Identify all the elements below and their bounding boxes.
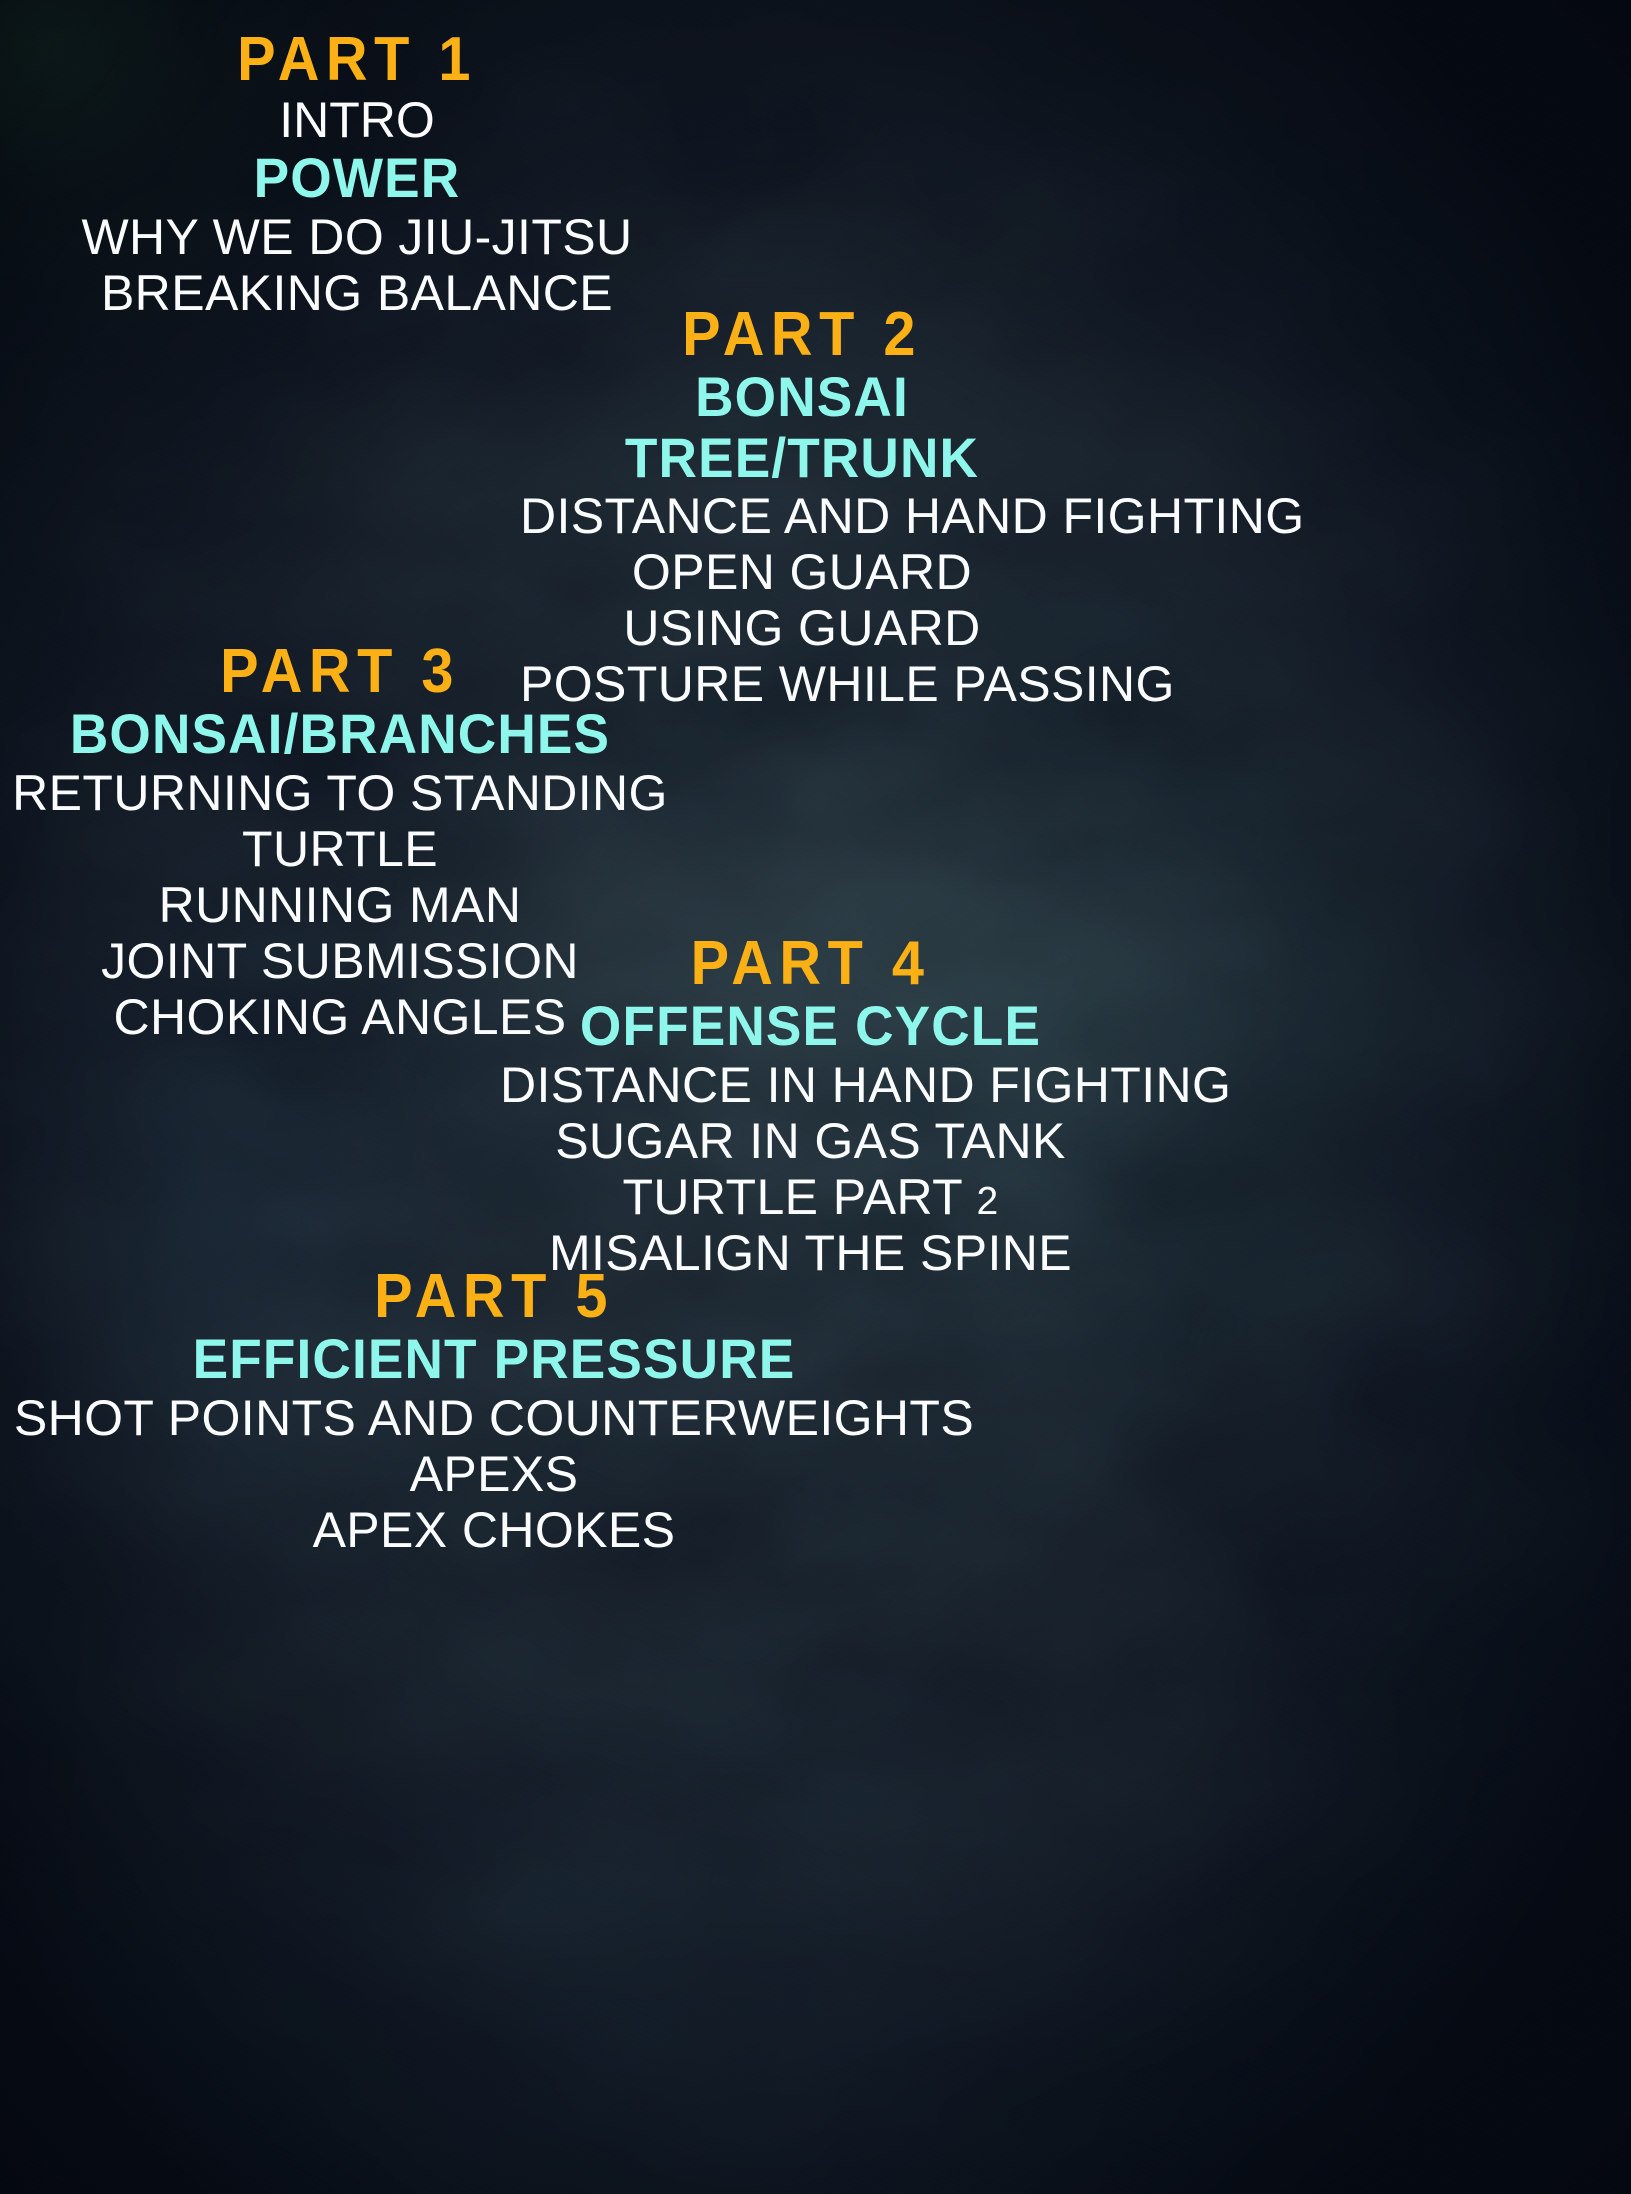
part-block-4: PART 4 OFFENSE CYCLE DISTANCE IN HAND FI… <box>0 932 1631 1281</box>
part-5-subtitle: EFFICIENT PRESSURE <box>25 1329 964 1389</box>
part-block-1: PART 1 INTRO POWER WHY WE DO JIU-JITSU B… <box>0 28 1631 321</box>
part-4-line-3-text: TURTLE PART <box>622 1169 976 1225</box>
part-4-lines: DISTANCE IN HAND FIGHTING SUGAR IN GAS T… <box>500 1057 1121 1281</box>
part-4-line-1: DISTANCE IN HAND FIGHTING <box>500 1057 1121 1113</box>
part-4-line-2: SUGAR IN GAS TANK <box>500 1113 1121 1169</box>
part-5-lines: SHOT POINTS AND COUNTERWEIGHTS APEXS APE… <box>0 1390 988 1558</box>
part-2-subtitle: BONSAI TREE/TRUNK <box>534 367 1070 488</box>
part-2-title: PART 2 <box>540 303 1065 367</box>
part-4-line-3-number: 2 <box>976 1180 998 1223</box>
part-5-line-1: SHOT POINTS AND COUNTERWEIGHTS <box>0 1390 988 1446</box>
part-2-line-2: OPEN GUARD <box>520 544 1084 600</box>
part-1-line-1: WHY WE DO JIU-JITSU <box>0 209 714 265</box>
part-5-line-3: APEX CHOKES <box>0 1502 988 1558</box>
part-3-line-2: TURTLE <box>0 821 680 877</box>
part-3-line-3: RUNNING MAN <box>0 877 680 933</box>
part-5-line-2: APEXS <box>0 1446 988 1502</box>
part-4-subtitle: OFFENSE CYCLE <box>516 996 1106 1056</box>
part-1-intro-line: INTRO <box>0 92 714 148</box>
part-4-title: PART 4 <box>522 932 1100 996</box>
part-1-subtitle: POWER <box>18 148 696 208</box>
part-3-subtitle: BONSAI/BRANCHES <box>17 704 663 764</box>
part-1-title: PART 1 <box>25 28 689 92</box>
part-block-5: PART 5 EFFICIENT PRESSURE SHOT POINTS AN… <box>0 1265 1631 1558</box>
part-4-line-3: TURTLE PART 2 <box>500 1169 1121 1225</box>
poster-root: PART 1 INTRO POWER WHY WE DO JIU-JITSU B… <box>0 0 1631 2194</box>
part-2-line-1: DISTANCE AND HAND FIGHTING <box>520 488 1084 544</box>
part-5-title: PART 5 <box>35 1265 954 1329</box>
part-3-line-1: RETURNING TO STANDING <box>0 765 680 821</box>
part-3-title: PART 3 <box>24 640 656 704</box>
parts-list: PART 1 INTRO POWER WHY WE DO JIU-JITSU B… <box>0 0 1631 2194</box>
